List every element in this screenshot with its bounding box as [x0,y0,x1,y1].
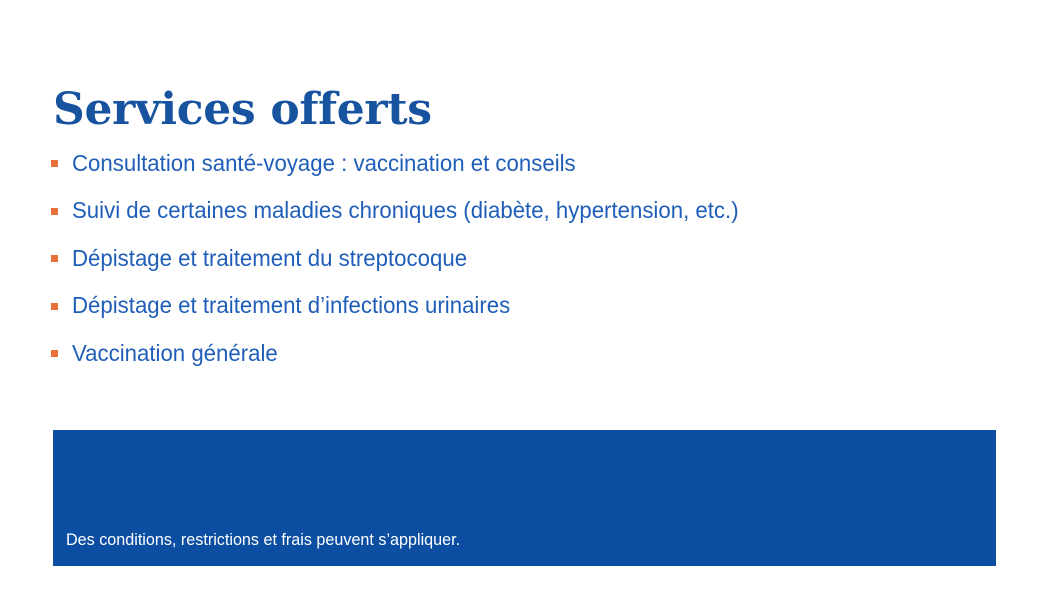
list-item: Dépistage et traitement d’infections uri… [51,283,991,331]
list-item: Vaccination générale [51,330,991,378]
list-item-label: Dépistage et traitement d’infections uri… [72,292,510,320]
square-bullet-icon [51,350,58,357]
list-item-label: Consultation santé-voyage : vaccination … [72,150,576,178]
square-bullet-icon [51,208,58,215]
disclaimer-banner: Des conditions, restrictions et frais pe… [53,430,996,566]
list-item: Consultation santé-voyage : vaccination … [51,140,991,188]
list-item: Dépistage et traitement du streptocoque [51,235,991,283]
services-list: Consultation santé-voyage : vaccination … [51,140,991,378]
list-item: Suivi de certaines maladies chroniques (… [51,188,991,236]
square-bullet-icon [51,255,58,262]
disclaimer-text: Des conditions, restrictions et frais pe… [66,530,460,550]
slide: Services offerts Consultation santé-voya… [0,0,1050,600]
list-item-label: Vaccination générale [72,340,278,368]
list-item-label: Suivi de certaines maladies chroniques (… [72,197,739,225]
square-bullet-icon [51,160,58,167]
list-item-label: Dépistage et traitement du streptocoque [72,245,467,273]
page-title: Services offerts [53,87,432,133]
square-bullet-icon [51,303,58,310]
